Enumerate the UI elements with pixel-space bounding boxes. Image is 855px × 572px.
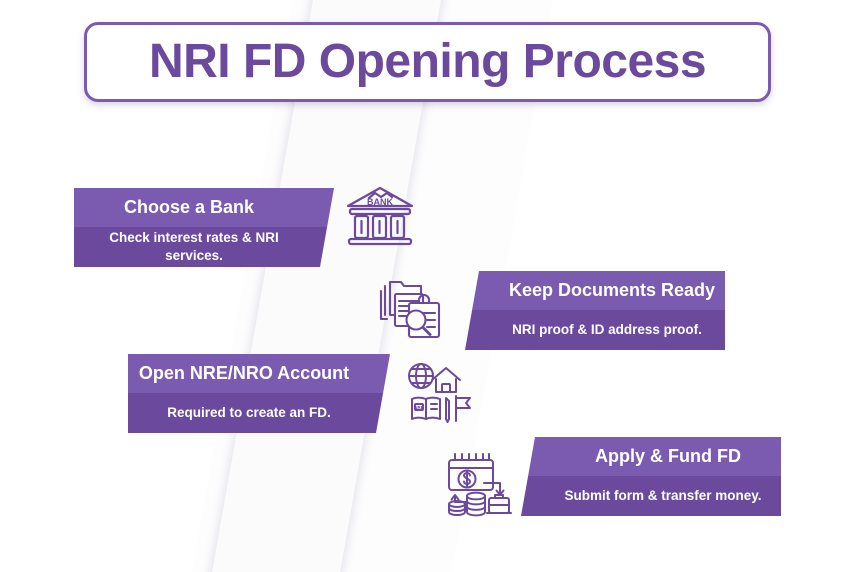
step-card-apply-and-fund-fd[interactable]: Apply & Fund FD Submit form & transfer m… [521, 437, 781, 516]
infographic-canvas: NRI FD Opening Process Choose a Bank Che… [0, 0, 855, 572]
step-heading-choose-a-bank: Choose a Bank [74, 188, 334, 227]
step-description-apply-and-fund-fd: Submit form & transfer money. [521, 476, 781, 516]
step-description-keep-documents-ready: NRI proof & ID address proof. [465, 310, 725, 350]
page-title-box: NRI FD Opening Process [84, 22, 771, 102]
step-heading-keep-documents-ready: Keep Documents Ready [465, 271, 725, 310]
step-card-choose-a-bank[interactable]: Choose a Bank Check interest rates & NRI… [74, 188, 334, 267]
bank-icon: BANK [337, 175, 423, 255]
documents-search-icon [370, 270, 456, 350]
step-heading-open-nre-nro-account: Open NRE/NRO Account [128, 354, 390, 393]
svg-text:BANK: BANK [367, 197, 393, 207]
step-heading-apply-and-fund-fd: Apply & Fund FD [521, 437, 781, 476]
step-card-keep-documents-ready[interactable]: Keep Documents Ready NRI proof & ID addr… [465, 271, 725, 350]
step-description-choose-a-bank: Check interest rates & NRI services. [74, 227, 334, 267]
globe-house-passbook-icon: NRE [398, 355, 484, 435]
step-description-open-nre-nro-account: Required to create an FD. [128, 393, 390, 433]
step-card-open-nre-nro-account[interactable]: Open NRE/NRO Account Required to create … [128, 354, 390, 433]
svg-text:NRE: NRE [414, 405, 424, 410]
page-title: NRI FD Opening Process [149, 38, 706, 86]
calendar-money-icon [438, 445, 524, 525]
